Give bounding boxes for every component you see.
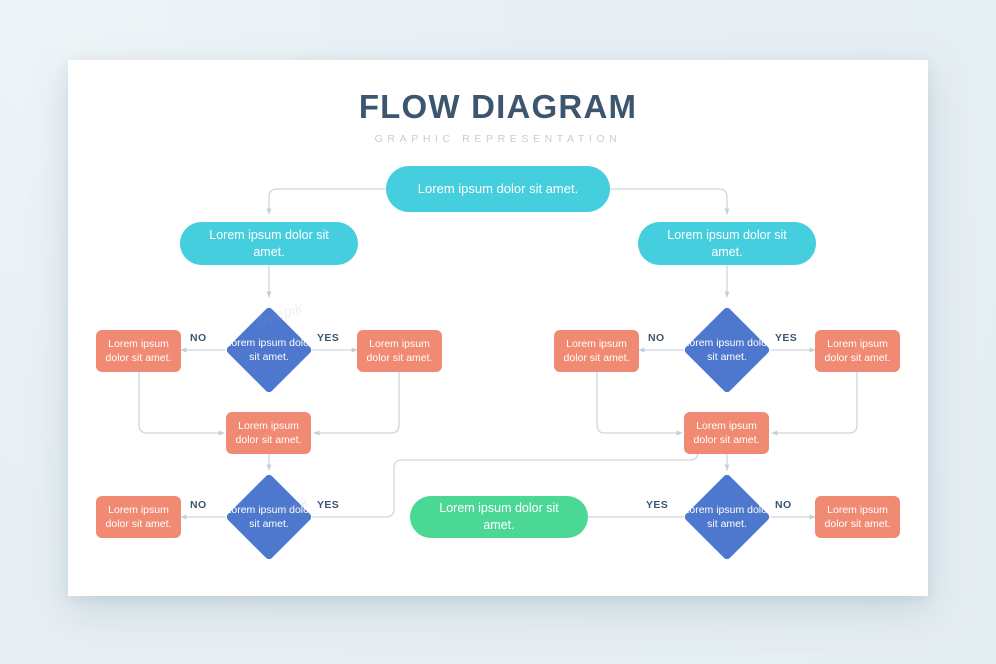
edge-label-right-bottom-yes: YES bbox=[646, 499, 668, 511]
node-out-left-top-yes-label: Lorem ipsum dolor sit amet. bbox=[365, 337, 434, 365]
flow-canvas: Lorem ipsum dolor sit amet. Lorem ipsum … bbox=[68, 60, 928, 596]
node-end-green-label: Lorem ipsum dolor sit amet. bbox=[424, 500, 574, 534]
node-decision-left-top-label: Lorem ipsum dolor sit amet. bbox=[224, 319, 314, 381]
node-start[interactable]: Lorem ipsum dolor sit amet. bbox=[386, 166, 610, 212]
node-decision-left-bottom-label: Lorem ipsum dolor sit amet. bbox=[224, 486, 314, 548]
node-decision-right-top-label: Lorem ipsum dolor sit amet. bbox=[682, 319, 772, 381]
edge-label-left-bottom-no: NO bbox=[190, 499, 207, 511]
node-branch-left-label: Lorem ipsum dolor sit amet. bbox=[194, 227, 344, 261]
node-merge-right-label: Lorem ipsum dolor sit amet. bbox=[692, 419, 761, 447]
node-out-left-bottom-no-label: Lorem ipsum dolor sit amet. bbox=[104, 503, 173, 531]
edge-label-right-top-yes: YES bbox=[775, 332, 797, 344]
node-out-right-bottom-no-label: Lorem ipsum dolor sit amet. bbox=[823, 503, 892, 531]
node-decision-right-top[interactable]: Lorem ipsum dolor sit amet. bbox=[696, 319, 758, 381]
node-out-left-top-no-label: Lorem ipsum dolor sit amet. bbox=[104, 337, 173, 365]
node-out-left-top-yes[interactable]: Lorem ipsum dolor sit amet. bbox=[357, 330, 442, 372]
node-out-left-top-no[interactable]: Lorem ipsum dolor sit amet. bbox=[96, 330, 181, 372]
node-merge-right[interactable]: Lorem ipsum dolor sit amet. bbox=[684, 412, 769, 454]
node-out-right-top-yes-label: Lorem ipsum dolor sit amet. bbox=[823, 337, 892, 365]
node-decision-right-bottom[interactable]: Lorem ipsum dolor sit amet. bbox=[696, 486, 758, 548]
node-merge-left[interactable]: Lorem ipsum dolor sit amet. bbox=[226, 412, 311, 454]
edge-label-left-top-yes: YES bbox=[317, 332, 339, 344]
node-out-right-top-no-label: Lorem ipsum dolor sit amet. bbox=[562, 337, 631, 365]
node-branch-right[interactable]: Lorem ipsum dolor sit amet. bbox=[638, 222, 816, 265]
node-branch-right-label: Lorem ipsum dolor sit amet. bbox=[652, 227, 802, 261]
node-end-green[interactable]: Lorem ipsum dolor sit amet. bbox=[410, 496, 588, 538]
edge-label-left-top-no: NO bbox=[190, 332, 207, 344]
node-decision-left-top[interactable]: Lorem ipsum dolor sit amet. bbox=[238, 319, 300, 381]
node-start-label: Lorem ipsum dolor sit amet. bbox=[418, 180, 578, 198]
node-out-right-bottom-no[interactable]: Lorem ipsum dolor sit amet. bbox=[815, 496, 900, 538]
edge-label-left-bottom-yes: YES bbox=[317, 499, 339, 511]
diagram-card: FLOW DIAGRAM GRAPHIC REPRESENTATION bbox=[68, 60, 928, 596]
node-layer: Lorem ipsum dolor sit amet. Lorem ipsum … bbox=[68, 60, 928, 596]
node-decision-right-bottom-label: Lorem ipsum dolor sit amet. bbox=[682, 486, 772, 548]
node-out-left-bottom-no[interactable]: Lorem ipsum dolor sit amet. bbox=[96, 496, 181, 538]
node-out-right-top-no[interactable]: Lorem ipsum dolor sit amet. bbox=[554, 330, 639, 372]
node-decision-left-bottom[interactable]: Lorem ipsum dolor sit amet. bbox=[238, 486, 300, 548]
edge-label-right-bottom-no: NO bbox=[775, 499, 792, 511]
node-out-right-top-yes[interactable]: Lorem ipsum dolor sit amet. bbox=[815, 330, 900, 372]
node-merge-left-label: Lorem ipsum dolor sit amet. bbox=[234, 419, 303, 447]
node-branch-left[interactable]: Lorem ipsum dolor sit amet. bbox=[180, 222, 358, 265]
edge-label-right-top-no: NO bbox=[648, 332, 665, 344]
